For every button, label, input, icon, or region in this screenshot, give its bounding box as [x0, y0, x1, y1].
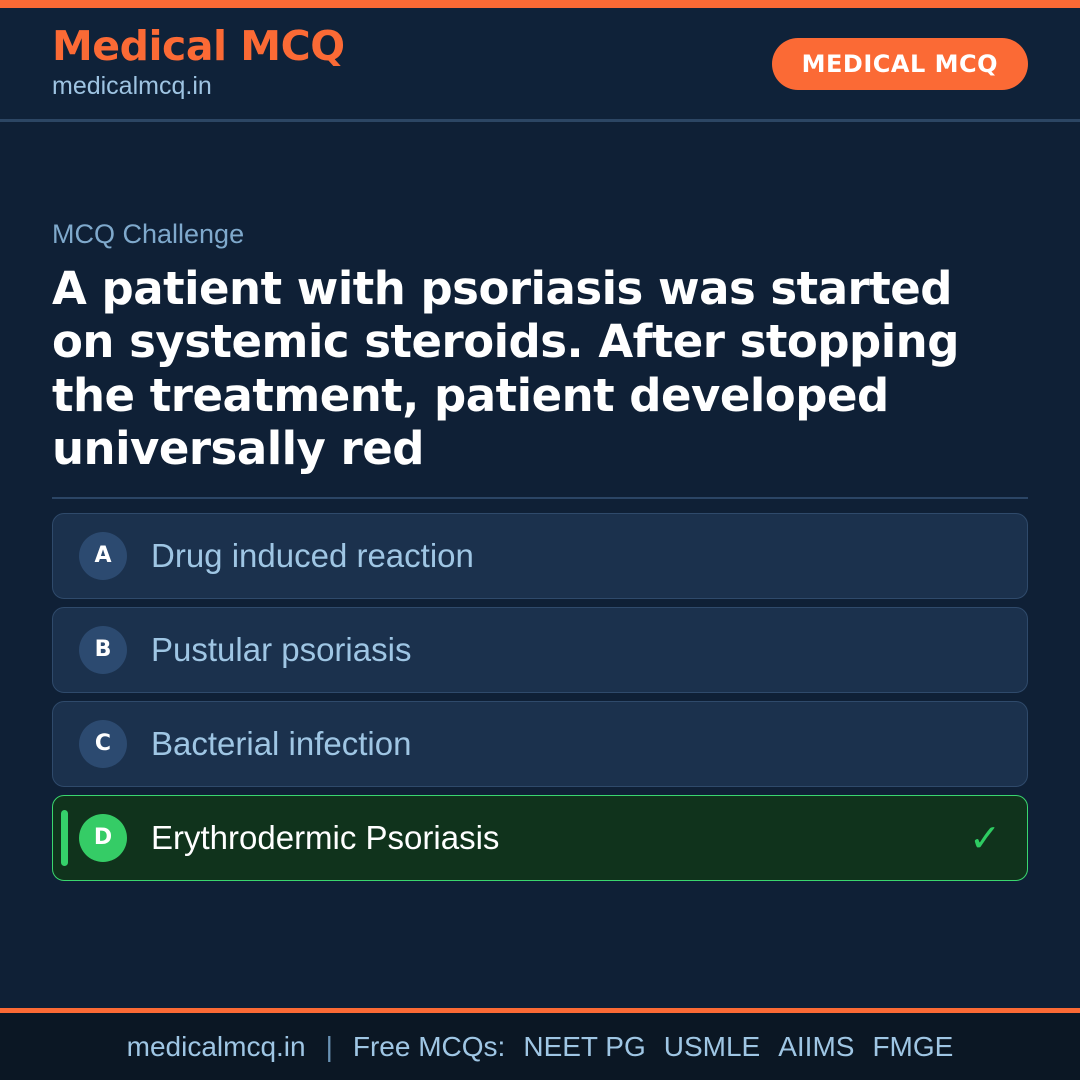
- footer-prefix: Free MCQs:: [353, 1031, 505, 1063]
- brand: Medical MCQ medicalmcq.in: [52, 25, 345, 103]
- check-icon: ✓: [969, 819, 1001, 857]
- top-accent-bar: [0, 0, 1080, 8]
- mcq-card: Medical MCQ medicalmcq.in MEDICAL MCQ MC…: [0, 0, 1080, 1080]
- option-d[interactable]: D Erythrodermic Psoriasis ✓: [52, 795, 1028, 881]
- option-label: Erythrodermic Psoriasis: [151, 820, 499, 856]
- question-text: A patient with psoriasis was started on …: [52, 262, 1028, 474]
- options-list: A Drug induced reaction B Pustular psori…: [52, 513, 1028, 881]
- option-letter-badge: B: [79, 626, 127, 674]
- footer-tag-usmle: USMLE: [660, 1031, 760, 1063]
- option-a[interactable]: A Drug induced reaction: [52, 513, 1028, 599]
- main-content: MCQ Challenge A patient with psoriasis w…: [0, 122, 1080, 1008]
- option-letter-badge: A: [79, 532, 127, 580]
- header: Medical MCQ medicalmcq.in MEDICAL MCQ: [0, 8, 1080, 122]
- option-label: Drug induced reaction: [151, 538, 474, 574]
- option-label: Bacterial infection: [151, 726, 411, 762]
- correct-accent-bar: [61, 810, 68, 866]
- footer-tag-neetpg: NEET PG: [519, 1031, 645, 1063]
- option-b[interactable]: B Pustular psoriasis: [52, 607, 1028, 693]
- brand-subtitle: medicalmcq.in: [52, 70, 345, 103]
- brand-badge: MEDICAL MCQ: [772, 38, 1028, 90]
- footer-tag-fmge: FMGE: [868, 1031, 953, 1063]
- footer-text: medicalmcq.in | Free MCQs: NEET PG USMLE…: [127, 1031, 954, 1063]
- brand-title: Medical MCQ: [52, 25, 345, 68]
- option-label: Pustular psoriasis: [151, 632, 411, 668]
- footer-separator: |: [320, 1031, 339, 1063]
- option-letter-badge: C: [79, 720, 127, 768]
- footer-tag-aiims: AIIMS: [774, 1031, 854, 1063]
- footer-site: medicalmcq.in: [127, 1031, 306, 1063]
- option-c[interactable]: C Bacterial infection: [52, 701, 1028, 787]
- eyebrow-label: MCQ Challenge: [52, 218, 1028, 250]
- option-letter-badge: D: [79, 814, 127, 862]
- question-divider: [52, 497, 1028, 499]
- footer: medicalmcq.in | Free MCQs: NEET PG USMLE…: [0, 1008, 1080, 1080]
